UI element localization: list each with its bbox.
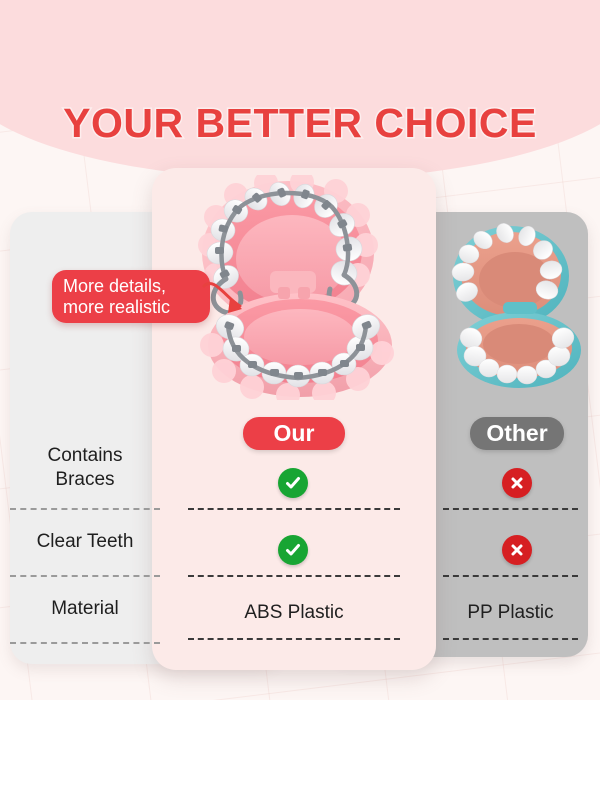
row-label-line-1: Clear Teeth bbox=[16, 530, 154, 554]
other-value-material: PP Plastic bbox=[443, 600, 578, 626]
other-material-value: PP Plastic bbox=[467, 602, 553, 624]
page-title: YOUR BETTER CHOICE bbox=[0, 100, 600, 147]
infographic-canvas: YOUR BETTER CHOICE bbox=[0, 0, 600, 800]
our-value-clear-teeth bbox=[278, 535, 308, 565]
other-row-separator bbox=[443, 508, 578, 510]
other-badge: Other bbox=[470, 417, 564, 450]
check-icon bbox=[278, 468, 308, 498]
dental-model-plain-icon bbox=[445, 222, 595, 392]
row-label-material: Material bbox=[10, 577, 160, 642]
other-row-separator bbox=[443, 638, 578, 640]
our-value-contains-braces bbox=[278, 468, 308, 498]
cross-icon bbox=[502, 468, 532, 498]
check-icon bbox=[278, 535, 308, 565]
curved-arrow-icon bbox=[200, 272, 270, 334]
callout-bubble: More details, more realistic bbox=[52, 270, 210, 323]
callout-line-2: more realistic bbox=[63, 297, 170, 318]
header-banner bbox=[0, 0, 600, 180]
other-value-contains-braces bbox=[502, 468, 532, 498]
our-value-material: ABS Plastic bbox=[188, 600, 400, 626]
our-row-separator bbox=[188, 508, 400, 510]
our-row-separator bbox=[188, 575, 400, 577]
row-label-contains-braces: Contains Braces bbox=[10, 440, 160, 508]
our-row-separator bbox=[188, 638, 400, 640]
row-separator bbox=[10, 642, 160, 644]
row-label-clear-teeth: Clear Teeth bbox=[10, 510, 160, 575]
our-badge: Our bbox=[243, 417, 345, 450]
criteria-label-list: Contains Braces Clear Teeth Material bbox=[10, 440, 160, 644]
callout-line-1: More details, bbox=[63, 276, 166, 297]
row-label-line-1: Material bbox=[16, 597, 154, 621]
other-row-separator bbox=[443, 575, 578, 577]
row-label-line-2: Braces bbox=[16, 468, 154, 492]
our-material-value: ABS Plastic bbox=[244, 602, 343, 624]
row-label-line-1: Contains bbox=[16, 444, 154, 468]
cross-icon bbox=[502, 535, 532, 565]
other-value-clear-teeth bbox=[502, 535, 532, 565]
